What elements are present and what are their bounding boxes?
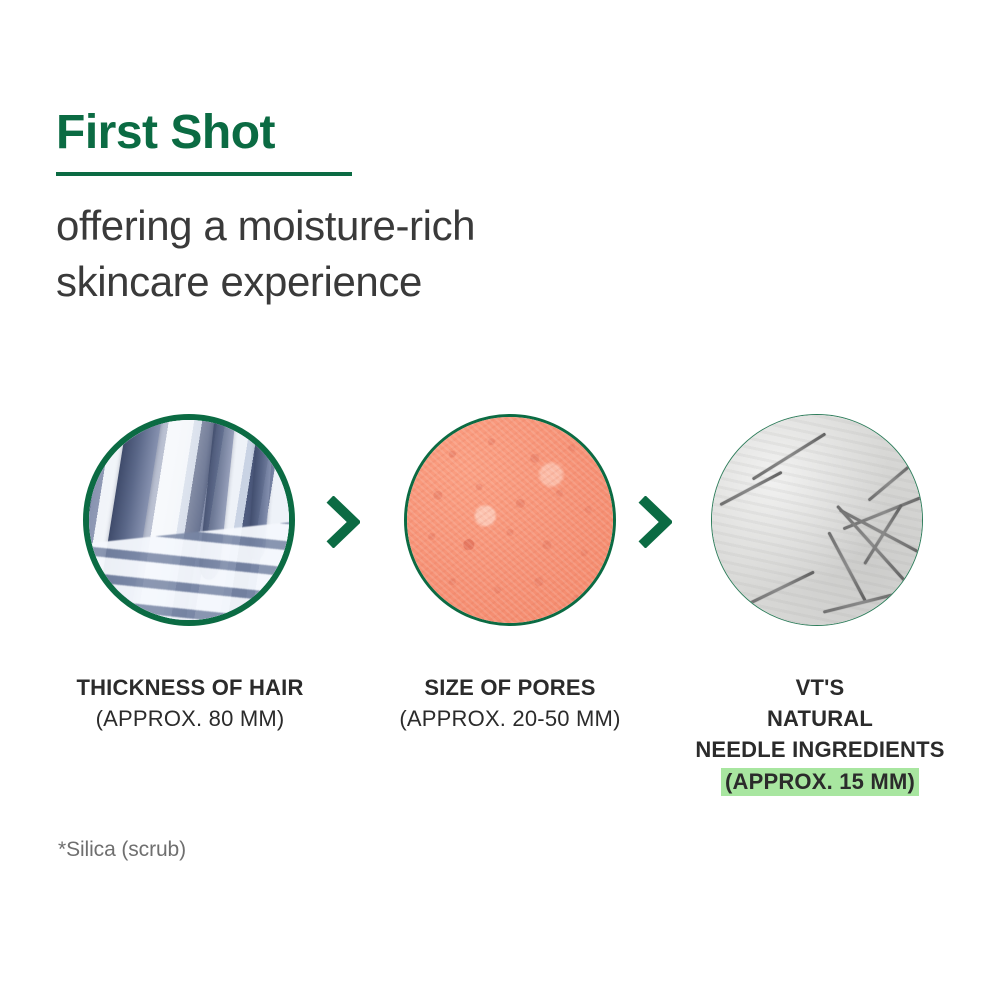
title-underline [56,172,352,176]
needle-sliver [719,471,782,507]
caption-hair: THICKNESS OF HAIR (APPROX. 80 MM) [30,672,350,734]
caption-needle-title-line-3: NEEDLE INGREDIENTS [660,734,980,765]
needle-sliver [868,463,913,501]
caption-pores-title: SIZE OF PORES [340,672,680,703]
caption-pores: SIZE OF PORES (APPROX. 20-50 MM) [340,672,680,734]
skin-pores-microscope-image [407,417,613,623]
steps-row [0,414,995,626]
hair-strand [248,414,276,560]
chevron-right-icon [638,496,672,548]
natural-needle-ingredients-microscope-image [712,415,922,625]
needle-sliver [863,504,903,565]
page-title: First Shot [56,108,756,158]
hair-strands-microscope-image [89,420,289,620]
subtitle: offering a moisture-rich skincare experi… [56,198,756,310]
step-image-hair [83,414,295,626]
footnote: *Silica (scrub) [58,838,186,862]
step-image-needle [711,414,923,626]
caption-hair-title: THICKNESS OF HAIR [30,672,350,703]
infographic-page: First Shot offering a moisture-rich skin… [0,0,995,995]
step-image-pores [404,414,616,626]
caption-needle-value-wrap: (APPROX. 15 MM) [660,766,980,797]
header-block: First Shot offering a moisture-rich skin… [56,108,756,310]
needle-sliver [843,495,923,531]
hair-strand [198,414,238,581]
caption-hair-value: (APPROX. 80 MM) [30,703,350,734]
hair-strand [93,414,163,626]
chevron-right-icon [326,496,360,548]
needle-sliver [836,505,908,584]
needle-sliver [839,509,923,557]
needle-sliver [823,591,901,613]
needle-sliver [745,570,815,606]
caption-needle: VT'S NATURAL NEEDLE INGREDIENTS (APPROX.… [660,672,980,797]
caption-pores-value: (APPROX. 20-50 MM) [340,703,680,734]
subtitle-line-2: skincare experience [56,254,756,310]
subtitle-line-1: offering a moisture-rich [56,198,756,254]
caption-needle-value-highlight: (APPROX. 15 MM) [721,768,919,797]
needle-sliver [827,531,866,601]
caption-needle-title-line-2: NATURAL [660,703,980,734]
needle-sliver [752,432,827,480]
caption-needle-title-line-1: VT'S [660,672,980,703]
